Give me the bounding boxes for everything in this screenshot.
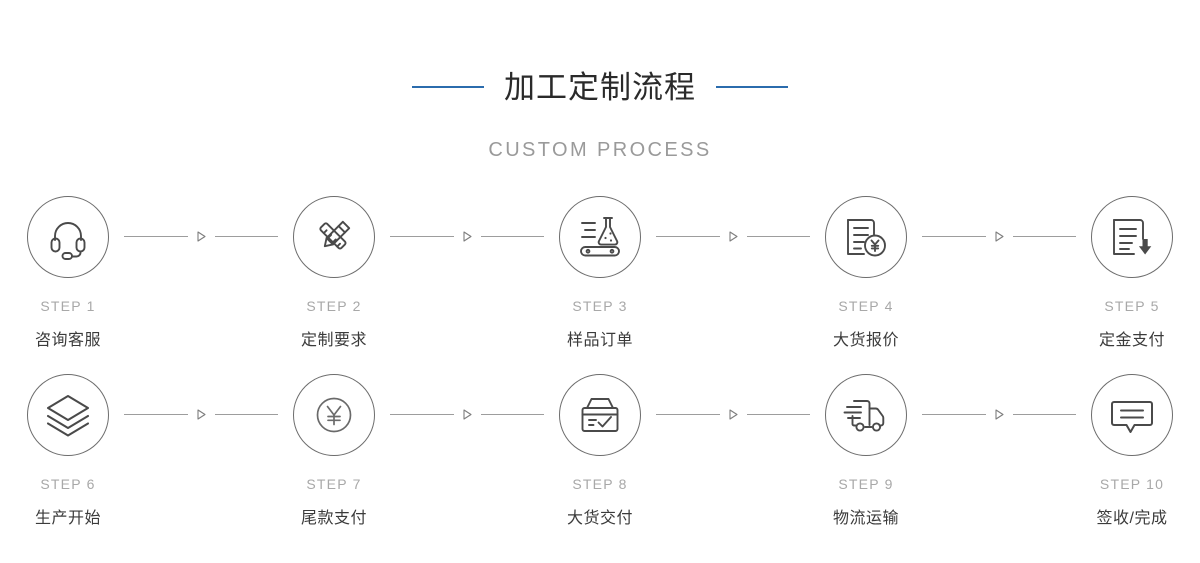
step-icon-circle	[559, 196, 641, 278]
step-connector	[124, 374, 278, 456]
connector-line-right	[1013, 236, 1077, 237]
step-label: 尾款支付	[278, 504, 390, 528]
step-item-3[interactable]: STEP 3 样品订单	[544, 196, 656, 350]
step-number: STEP 9	[810, 476, 922, 492]
yuan-coin-icon	[311, 392, 357, 438]
delivery-truck-icon	[843, 392, 889, 438]
triangle-arrow-right-icon	[729, 409, 738, 420]
step-label: 定制要求	[278, 326, 390, 350]
step-number: STEP 6	[12, 476, 124, 492]
step-label: 样品订单	[544, 326, 656, 350]
step-item-1[interactable]: STEP 1 咨询客服	[12, 196, 124, 350]
step-label: 定金支付	[1076, 326, 1188, 350]
step-number: STEP 2	[278, 298, 390, 314]
step-number: STEP 8	[544, 476, 656, 492]
document-yuan-icon	[843, 214, 889, 260]
triangle-arrow-right-icon	[995, 231, 1004, 242]
box-check-icon	[577, 392, 623, 438]
connector-line-left	[922, 414, 986, 415]
connector-line-left	[656, 236, 720, 237]
document-download-icon	[1109, 214, 1155, 260]
step-number: STEP 3	[544, 298, 656, 314]
connector-line-left	[390, 236, 454, 237]
step-icon-circle	[825, 196, 907, 278]
step-label: 生产开始	[12, 504, 124, 528]
step-icon-circle	[27, 196, 109, 278]
step-icon-circle	[1091, 196, 1173, 278]
triangle-arrow-right-icon	[197, 231, 206, 242]
connector-line-left	[656, 414, 720, 415]
step-item-4[interactable]: STEP 4 大货报价	[810, 196, 922, 350]
connector-line-right	[481, 236, 545, 237]
step-item-7[interactable]: STEP 7 尾款支付	[278, 374, 390, 528]
title-rule-right	[716, 86, 788, 88]
custom-process-page: 加工定制流程 CUSTOM PROCESS STEP 1	[0, 0, 1200, 563]
layers-icon	[45, 392, 91, 438]
page-subtitle: CUSTOM PROCESS	[0, 139, 1200, 162]
pencil-ruler-icon	[311, 214, 357, 260]
step-item-2[interactable]: STEP 2 定制要求	[278, 196, 390, 350]
step-item-9[interactable]: STEP 9 物流运输	[810, 374, 922, 528]
step-connector	[656, 374, 810, 456]
step-item-5[interactable]: STEP 5 定金支付	[1076, 196, 1188, 350]
step-row-2: STEP 6 生产开始	[0, 374, 1200, 528]
connector-line-right	[481, 414, 545, 415]
connector-line-right	[747, 414, 811, 415]
step-item-8[interactable]: STEP 8 大货交付	[544, 374, 656, 528]
step-row-1: STEP 1 咨询客服	[0, 196, 1200, 350]
triangle-arrow-right-icon	[197, 409, 206, 420]
step-icon-circle	[27, 374, 109, 456]
step-icon-circle	[293, 196, 375, 278]
step-connector	[390, 374, 544, 456]
triangle-arrow-right-icon	[995, 409, 1004, 420]
triangle-arrow-right-icon	[463, 231, 472, 242]
connector-line-right	[1013, 414, 1077, 415]
flask-conveyor-icon	[577, 214, 623, 260]
step-connector	[922, 196, 1076, 278]
triangle-arrow-right-icon	[463, 409, 472, 420]
page-header: 加工定制流程 CUSTOM PROCESS	[0, 0, 1200, 162]
connector-line-left	[124, 414, 188, 415]
chat-bubble-icon	[1109, 392, 1155, 438]
step-number: STEP 10	[1076, 476, 1188, 492]
connector-line-right	[747, 236, 811, 237]
connector-line-left	[124, 236, 188, 237]
step-label: 大货交付	[544, 504, 656, 528]
step-label: 签收/完成	[1076, 504, 1188, 528]
step-number: STEP 7	[278, 476, 390, 492]
step-label: 咨询客服	[12, 326, 124, 350]
connector-line-right	[215, 236, 279, 237]
process-steps: STEP 1 咨询客服	[0, 196, 1200, 528]
step-number: STEP 4	[810, 298, 922, 314]
step-connector	[922, 374, 1076, 456]
step-item-6[interactable]: STEP 6 生产开始	[12, 374, 124, 528]
headset-icon	[45, 214, 91, 260]
connector-line-right	[215, 414, 279, 415]
step-icon-circle	[825, 374, 907, 456]
connector-line-left	[390, 414, 454, 415]
step-label: 大货报价	[810, 326, 922, 350]
step-item-10[interactable]: STEP 10 签收/完成	[1076, 374, 1188, 528]
step-icon-circle	[293, 374, 375, 456]
step-number: STEP 5	[1076, 298, 1188, 314]
step-label: 物流运输	[810, 504, 922, 528]
title-row: 加工定制流程	[0, 48, 1200, 127]
connector-line-left	[922, 236, 986, 237]
page-title: 加工定制流程	[504, 69, 696, 106]
step-icon-circle	[1091, 374, 1173, 456]
title-rule-left	[412, 86, 484, 88]
step-number: STEP 1	[12, 298, 124, 314]
step-connector	[656, 196, 810, 278]
step-connector	[390, 196, 544, 278]
step-connector	[124, 196, 278, 278]
step-icon-circle	[559, 374, 641, 456]
triangle-arrow-right-icon	[729, 231, 738, 242]
